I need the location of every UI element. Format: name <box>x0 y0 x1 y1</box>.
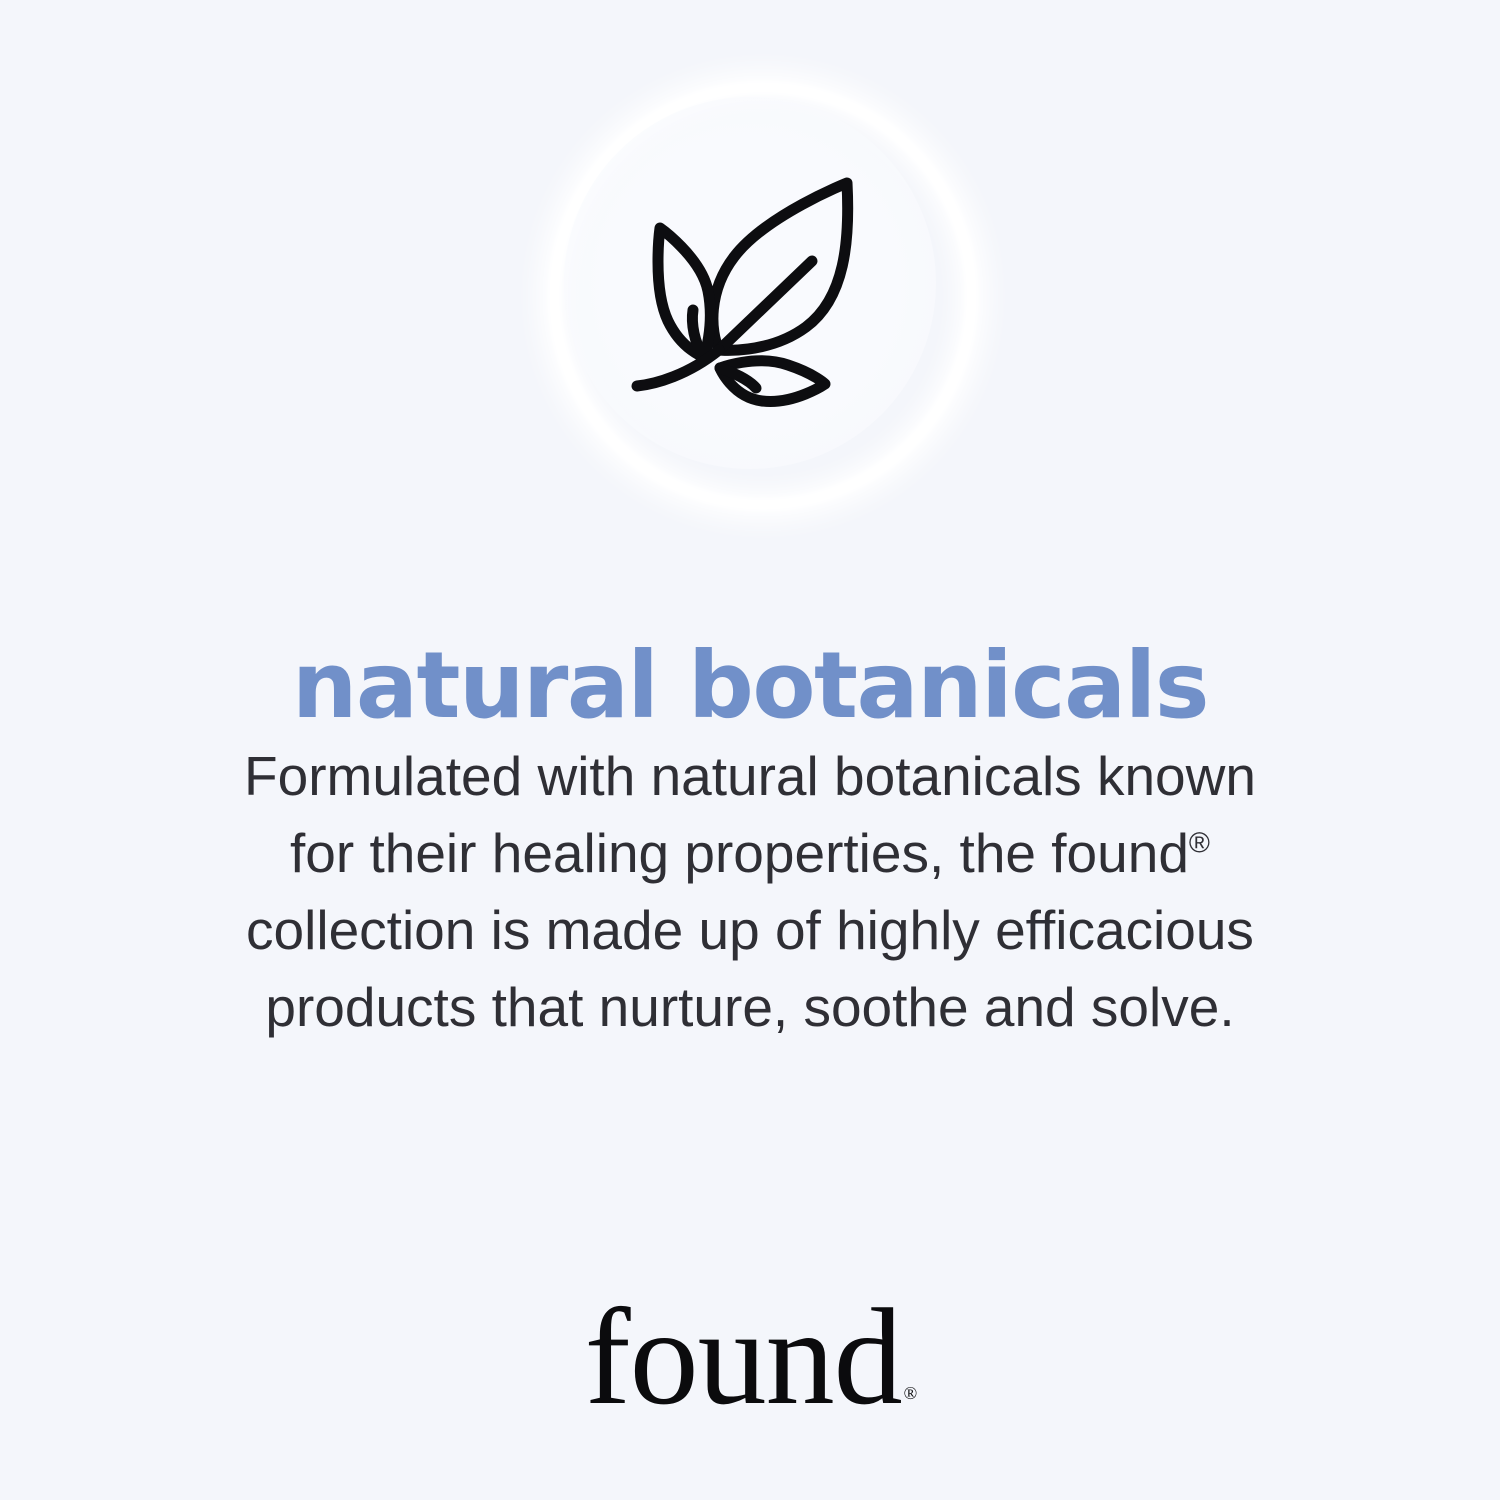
leaf-branch-icon <box>616 149 884 417</box>
badge-container <box>0 58 1500 508</box>
brand-registered-trademark-icon: ® <box>904 1383 918 1403</box>
icon-badge <box>530 63 970 503</box>
product-feature-card: natural botanicals Formulated with natur… <box>0 0 1500 1500</box>
description-line-2: for their healing properties, the found® <box>205 815 1295 892</box>
description-line-3: collection is made up of highly efficaci… <box>205 892 1295 969</box>
brand-wordmark-text: found <box>585 1280 902 1433</box>
registered-trademark-icon: ® <box>1189 828 1210 860</box>
description-line-4: products that nurture, soothe and solve. <box>205 969 1295 1046</box>
description-line-1: Formulated with natural botanicals known <box>205 738 1295 815</box>
description-text: Formulated with natural botanicals known… <box>205 738 1295 1046</box>
brand-wordmark: found® <box>0 1288 1500 1426</box>
page-title: natural botanicals <box>0 640 1500 732</box>
description-line-2-text: for their healing properties, the found <box>290 822 1189 884</box>
